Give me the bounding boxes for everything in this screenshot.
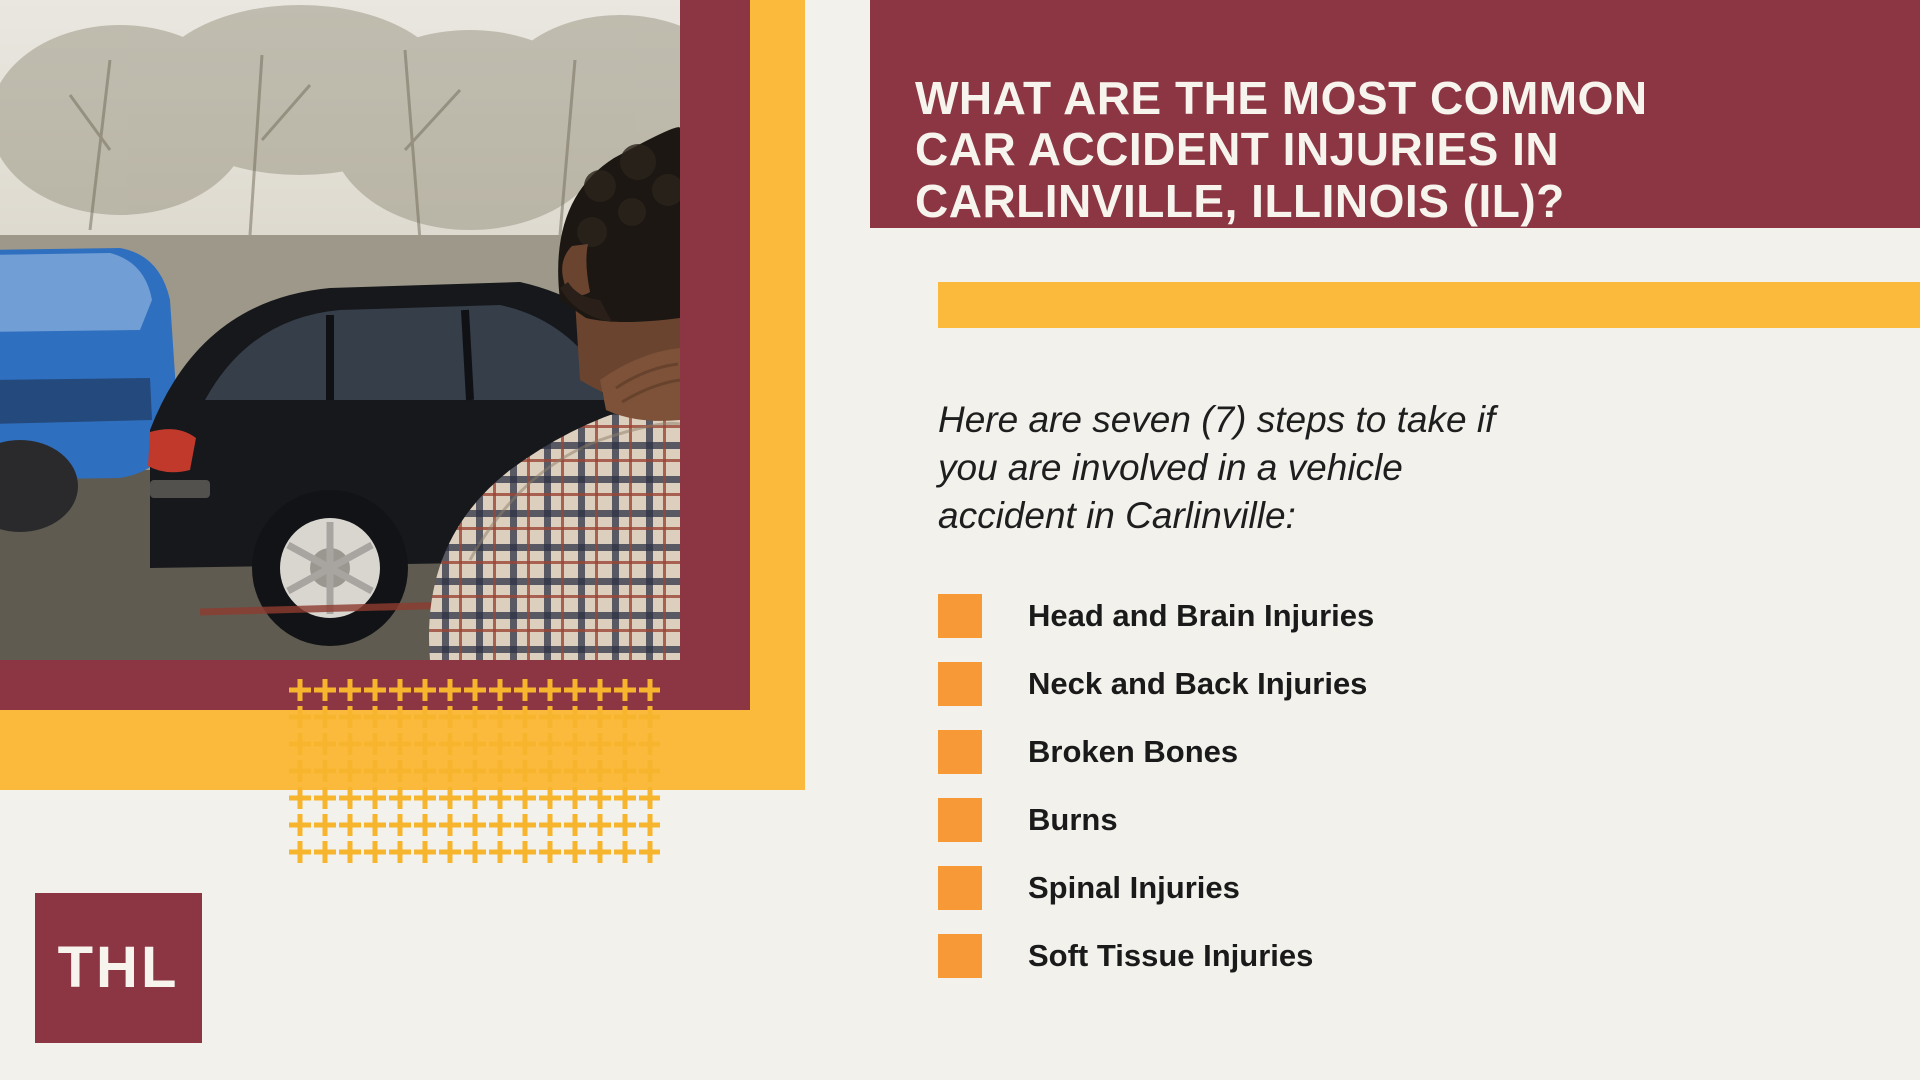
plus-pattern-decoration: [288, 678, 660, 868]
decorative-red-stripe: [680, 0, 750, 300]
thl-logo: THL: [35, 893, 202, 1043]
accident-photo: [0, 0, 680, 660]
list-item: Soft Tissue Injuries: [938, 928, 1698, 984]
list-item: Head and Brain Injuries: [938, 588, 1698, 644]
page-title-line-2: CAR ACCIDENT INJURIES IN: [915, 124, 1915, 176]
list-item: Burns: [938, 792, 1698, 848]
injury-list: Head and Brain Injuries Neck and Back In…: [938, 588, 1698, 996]
list-item: Broken Bones: [938, 724, 1698, 780]
list-item: Neck and Back Injuries: [938, 656, 1698, 712]
list-item-label: Broken Bones: [1028, 734, 1238, 770]
subheading-line-1: Here are seven (7) steps to take if: [938, 396, 1578, 444]
decorative-yellow-stripe: [750, 0, 805, 790]
thl-logo-text: THL: [58, 939, 180, 997]
subheading-line-2: you are involved in a vehicle: [938, 444, 1578, 492]
subheading: Here are seven (7) steps to take if you …: [938, 396, 1578, 540]
header-yellow-underbar: [938, 282, 1920, 328]
list-item: Spinal Injuries: [938, 860, 1698, 916]
list-item-label: Burns: [1028, 802, 1118, 838]
decorative-cream-stripe: [805, 0, 870, 300]
square-bullet-icon: [938, 798, 982, 842]
square-bullet-icon: [938, 934, 982, 978]
subheading-line-3: accident in Carlinville:: [938, 492, 1578, 540]
list-item-label: Soft Tissue Injuries: [1028, 938, 1313, 974]
list-item-label: Spinal Injuries: [1028, 870, 1240, 906]
square-bullet-icon: [938, 662, 982, 706]
page-title: WHAT ARE THE MOST COMMON CAR ACCIDENT IN…: [915, 73, 1915, 228]
square-bullet-icon: [938, 730, 982, 774]
square-bullet-icon: [938, 866, 982, 910]
square-bullet-icon: [938, 594, 982, 638]
list-item-label: Head and Brain Injuries: [1028, 598, 1374, 634]
page-title-line-3: CARLINVILLE, ILLINOIS (IL)?: [915, 176, 1915, 228]
page-title-line-1: WHAT ARE THE MOST COMMON: [915, 73, 1915, 125]
list-item-label: Neck and Back Injuries: [1028, 666, 1367, 702]
